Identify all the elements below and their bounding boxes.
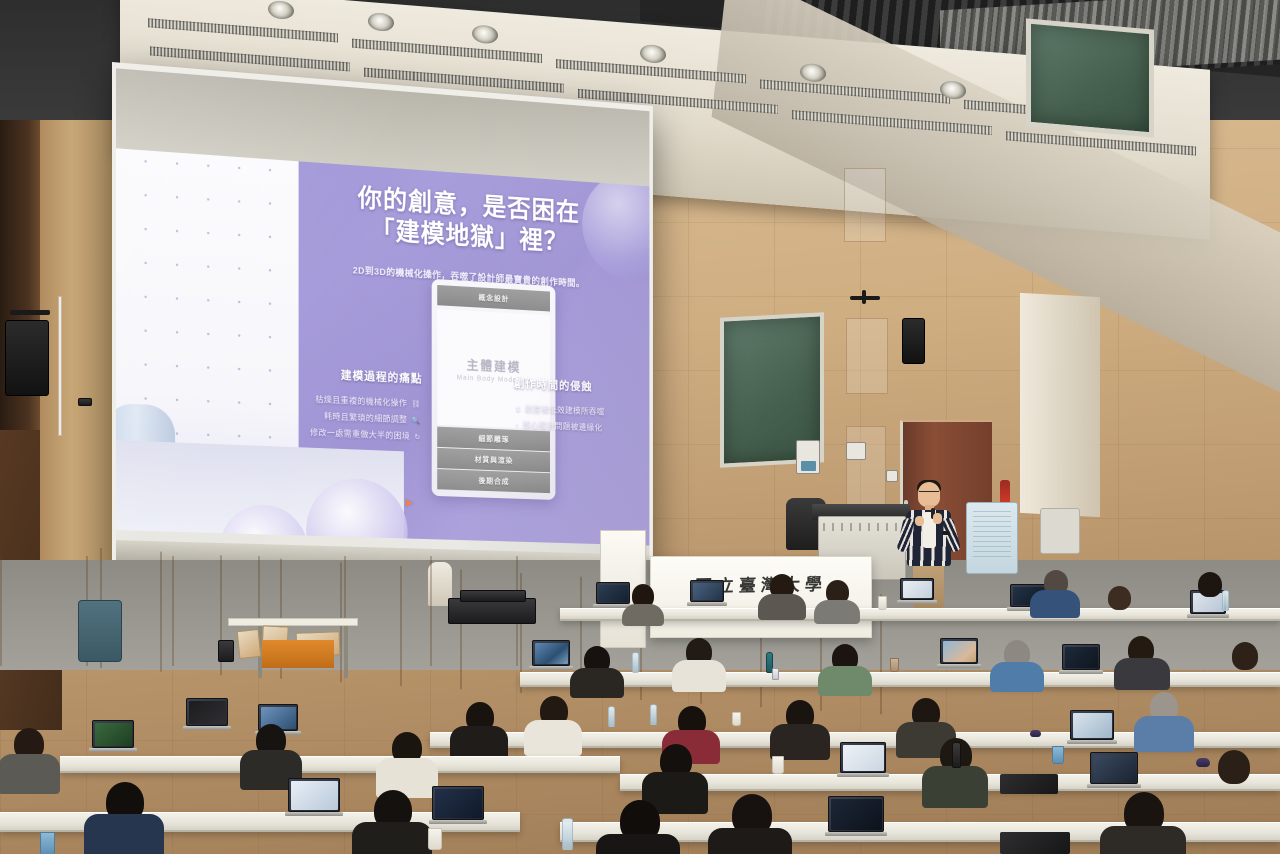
ceiling-downlight (640, 44, 666, 64)
smartphone[interactable] (772, 668, 779, 680)
control-panel-screen (801, 461, 816, 471)
wall-speaker-left (5, 320, 49, 396)
computer-mouse[interactable] (1030, 730, 1041, 737)
desk-row (60, 756, 620, 773)
refresh-icon: ↻ (414, 430, 420, 444)
pin-icon: ⬩ (516, 418, 519, 432)
pain-points-column: 建模過程的痛點 枯燥且重複的機械化操作 ⛓ 耗時且繁瑣的細節調整 🔍 修改一處需… (281, 364, 422, 444)
audience-body (818, 666, 872, 696)
tablet-device[interactable] (1000, 774, 1058, 794)
audience-head (1198, 572, 1222, 597)
wall-access-panel (844, 168, 886, 242)
glasses-icon (919, 491, 939, 495)
paper-cup (428, 828, 442, 850)
desk-row (560, 608, 1280, 621)
laptop[interactable] (432, 786, 484, 820)
ceiling-downlight (472, 24, 498, 44)
audience-body (84, 814, 164, 854)
laptop[interactable] (900, 578, 934, 600)
laptop[interactable] (1070, 710, 1114, 740)
audience-body (770, 724, 830, 760)
drawing-tablet[interactable] (1000, 832, 1070, 854)
screen-frame: 你的創意，是否困在 「建模地獄」裡？ 2D到3D的機械化操作，吞噬了設計師最寶貴… (112, 62, 653, 594)
audience-body (758, 594, 806, 620)
time-erosion-text: 核心設計問題被邊緣化 (523, 419, 603, 432)
laptop[interactable] (186, 698, 228, 726)
slide-body: 建模過程的痛點 枯燥且重複的機械化操作 ⛓ 耗時且繁瑣的細節調整 🔍 修改一處需… (281, 294, 642, 540)
paper-cup (772, 756, 784, 774)
audience-area (0, 560, 1280, 854)
wall-intercom[interactable] (846, 442, 866, 460)
pain-points-heading: 建模過程的痛點 (281, 364, 422, 386)
audience-body (1030, 590, 1080, 618)
water-bottle (608, 706, 615, 727)
laptop[interactable] (92, 720, 134, 748)
laptop[interactable] (596, 582, 630, 604)
audience-body (0, 754, 60, 794)
lecture-hall-photo: 你的創意，是否困在 「建模地獄」裡？ 2D到3D的機械化操作，吞噬了設計師最寶貴… (0, 0, 1280, 854)
screen-surface: 你的創意，是否困在 「建模地獄」裡？ 2D到3D的機械化操作，吞噬了設計師最寶貴… (116, 68, 649, 573)
speaker-bracket (862, 290, 866, 304)
air-vent (352, 39, 542, 63)
paper-cup (40, 832, 55, 854)
laptop[interactable] (828, 796, 884, 832)
thermos-bottle (952, 742, 961, 768)
air-vent (148, 18, 338, 42)
wall-sensor (78, 398, 92, 406)
pain-point-text: 修改一處需重做大半的困境 (310, 427, 410, 441)
laptop[interactable] (1062, 644, 1100, 670)
audience-body (450, 726, 508, 760)
paper-cup (1052, 746, 1064, 764)
water-bottle (1222, 590, 1229, 611)
time-erosion-heading: 創作時間的侵蝕 (514, 375, 648, 396)
flow-step-texture: 材質與渲染 (437, 448, 550, 472)
time-erosion-column: 創作時間的侵蝕 ⧗ 創意被低效建模所吞噬 ⬩ 核心設計問題被邊緣化 (514, 375, 648, 437)
laptop[interactable] (1090, 752, 1138, 784)
audience-body (922, 766, 988, 808)
laptop[interactable] (940, 638, 978, 664)
wall-speaker-right (902, 318, 925, 364)
paper-cup (732, 712, 741, 726)
slide-title: 你的創意，是否困在 「建模地獄」裡？ (299, 179, 636, 262)
audience-body (570, 668, 624, 698)
audience-body (990, 662, 1044, 692)
conduit-pipe (58, 296, 62, 436)
audience-head (1108, 586, 1131, 610)
presenter-right-hand (933, 513, 942, 524)
audience-body (708, 828, 792, 854)
audience-head (1232, 642, 1258, 670)
computer-mouse[interactable] (1196, 758, 1210, 767)
wall-access-panel (846, 318, 888, 394)
audience-body (1100, 826, 1186, 854)
audience-body (622, 604, 664, 626)
audience-body (1114, 658, 1170, 690)
magnifier-icon: 🔍 (412, 414, 421, 429)
coffee-cup (890, 658, 899, 672)
water-bottle (562, 818, 573, 850)
pain-point-text: 枯燥且重複的機械化操作 (315, 394, 407, 408)
flow-bottom-steps: 細節雕琢 材質與渲染 後期合成 (437, 427, 550, 494)
laptop[interactable] (532, 640, 570, 666)
coffee-cup (878, 596, 887, 610)
audience-body (1134, 716, 1194, 752)
water-bottle (650, 704, 657, 725)
audience-body (596, 834, 680, 854)
flow-step-top: 概念設計 (437, 285, 550, 312)
speaker-bracket (10, 310, 50, 315)
presentation-slide: 你的創意，是否困在 「建模地獄」裡？ 2D到3D的機械化操作，吞噬了設計師最寶貴… (116, 148, 649, 545)
wall-outlet (886, 470, 898, 482)
water-bottle (632, 652, 639, 673)
flow-main-label-zh: 主體建模 (467, 355, 522, 376)
audience-body (352, 822, 432, 854)
presenter-left-hand (915, 516, 924, 526)
flow-step-compositing: 後期合成 (437, 469, 550, 493)
wall-curtain (1020, 293, 1100, 517)
wristwatch-icon (942, 531, 950, 535)
ceiling-downlight (268, 0, 294, 20)
wall-control-panel[interactable] (796, 440, 820, 474)
link-icon: ⛓ (411, 398, 420, 413)
laptop[interactable] (690, 580, 724, 602)
stage-chair[interactable] (1040, 508, 1080, 554)
audience-body (524, 720, 582, 756)
audience-body (814, 600, 860, 624)
ceiling-downlight (368, 12, 394, 32)
audience-body (672, 660, 726, 692)
audience-head (1218, 750, 1250, 784)
chalkboard-upper-right (1026, 18, 1154, 137)
projection-screen: 你的創意，是否困在 「建模地獄」裡？ 2D到3D的機械化操作，吞噬了設計師最寶貴… (112, 62, 653, 594)
laptop[interactable] (840, 742, 886, 773)
time-erosion-text: 創意被低效建模所吞噬 (525, 404, 605, 417)
hourglass-icon: ⧗ (516, 402, 521, 416)
laptop[interactable] (288, 778, 340, 812)
pain-point-text: 耗時且繁瑣的細節調整 (324, 411, 407, 424)
